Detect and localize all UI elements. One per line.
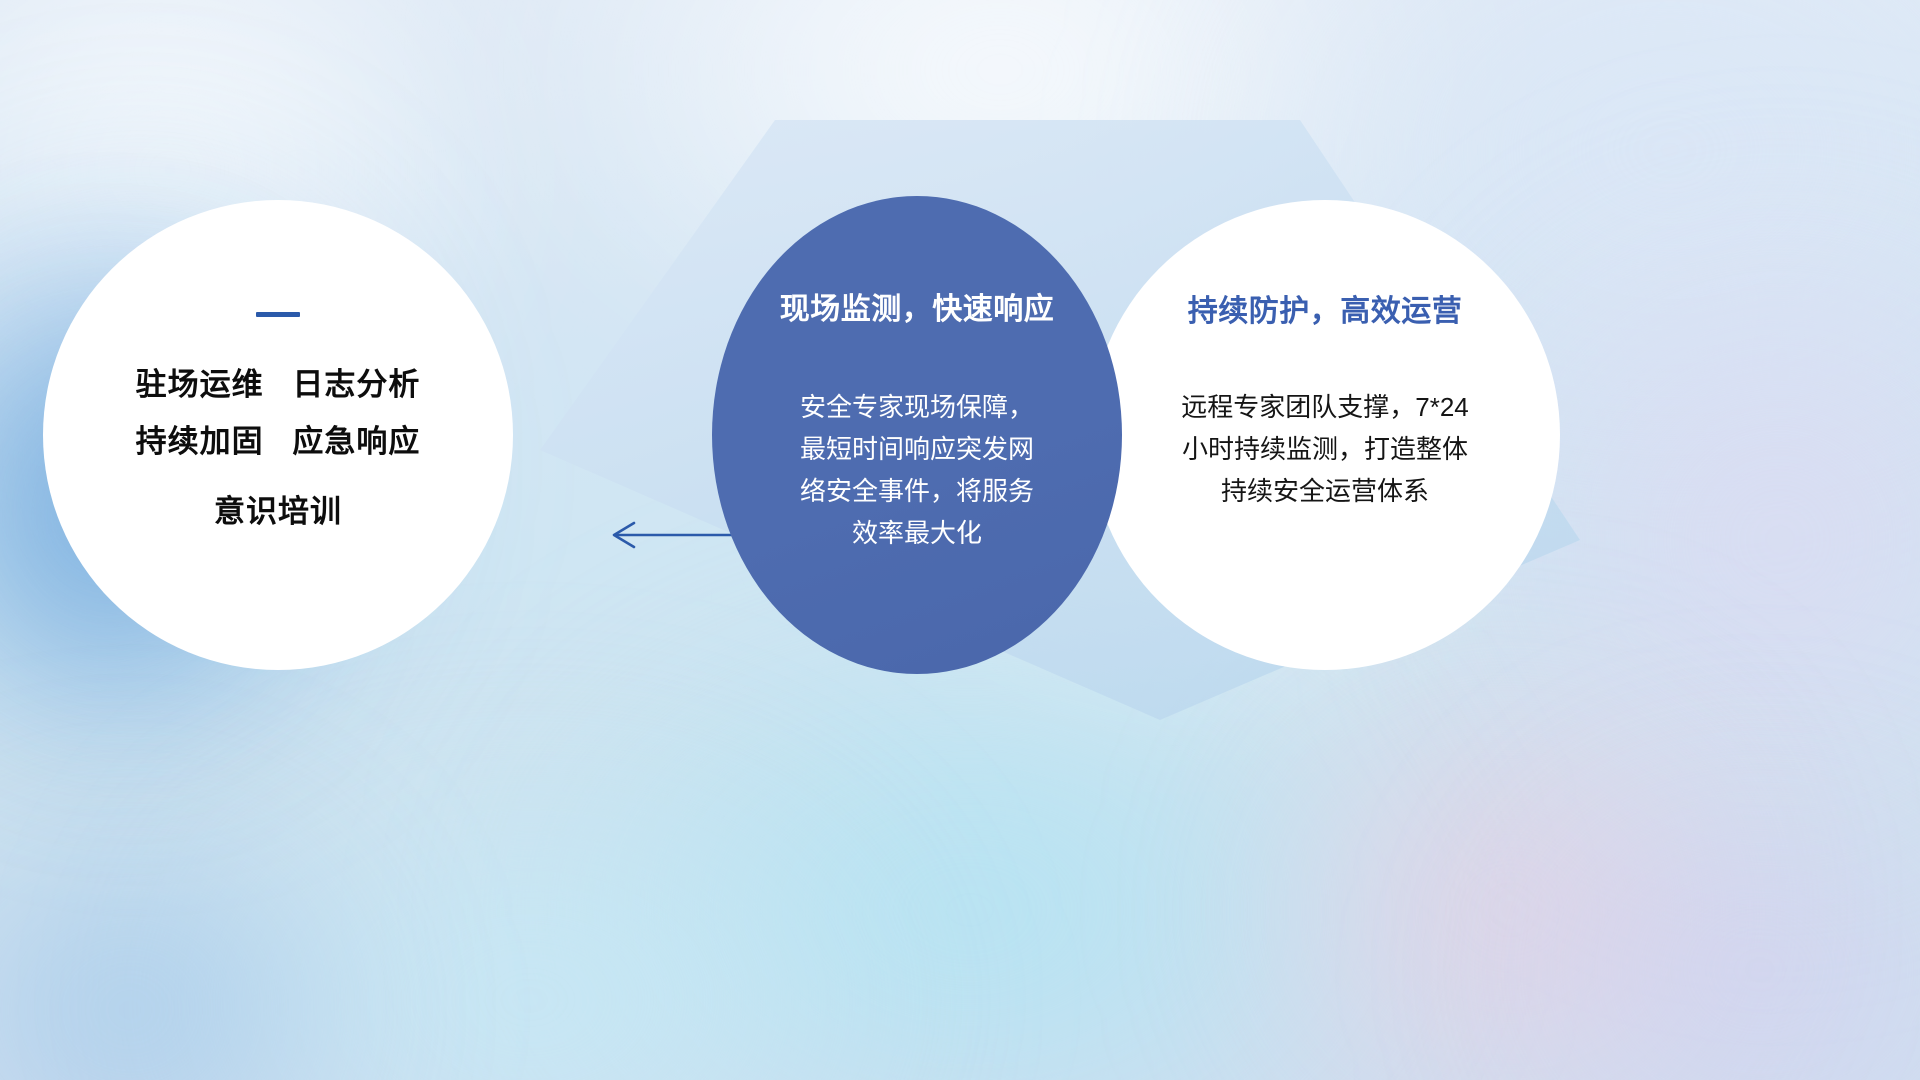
middle-circle-body-line-4: 效率最大化 — [767, 512, 1067, 554]
right-circle-title: 持续防护，高效运营 — [1188, 286, 1463, 330]
middle-circle-body-line-2: 最短时间响应突发网 — [767, 428, 1067, 470]
left-circle-line-2: 持续加固 应急响应 — [136, 426, 421, 459]
right-circle-body-line-2: 小时持续监测，打造整体 — [1125, 428, 1525, 470]
middle-circle-body-line-3: 络安全事件，将服务 — [767, 470, 1067, 512]
divider-dash-icon — [256, 312, 300, 317]
right-service-circle[interactable]: 持续防护，高效运营 远程专家团队支撑，7*24 小时持续监测，打造整体 持续安全… — [1090, 200, 1560, 670]
slide-canvas: 驻场运维 日志分析 持续加固 应急响应 意识培训 持续防护，高效运营 远程专家团… — [0, 0, 1920, 1080]
right-circle-body-line-1: 远程专家团队支撑，7*24 — [1125, 386, 1525, 428]
left-circle-line-3: 意识培训 — [214, 496, 342, 529]
middle-circle-body-line-1: 安全专家现场保障， — [767, 386, 1067, 428]
middle-circle-body: 安全专家现场保障， 最短时间响应突发网 络安全事件，将服务 效率最大化 — [767, 386, 1067, 554]
left-capability-circle[interactable]: 驻场运维 日志分析 持续加固 应急响应 意识培训 — [43, 200, 513, 670]
middle-circle-title: 现场监测，快速响应 — [780, 284, 1055, 328]
right-circle-body-line-3: 持续安全运营体系 — [1125, 470, 1525, 512]
middle-service-circle[interactable]: 现场监测，快速响应 安全专家现场保障， 最短时间响应突发网 络安全事件，将服务 … — [712, 196, 1122, 674]
left-circle-text-block: 驻场运维 日志分析 持续加固 应急响应 意识培训 — [136, 369, 421, 529]
left-circle-line-1: 驻场运维 日志分析 — [136, 369, 421, 402]
right-circle-body: 远程专家团队支撑，7*24 小时持续监测，打造整体 持续安全运营体系 — [1125, 386, 1525, 512]
